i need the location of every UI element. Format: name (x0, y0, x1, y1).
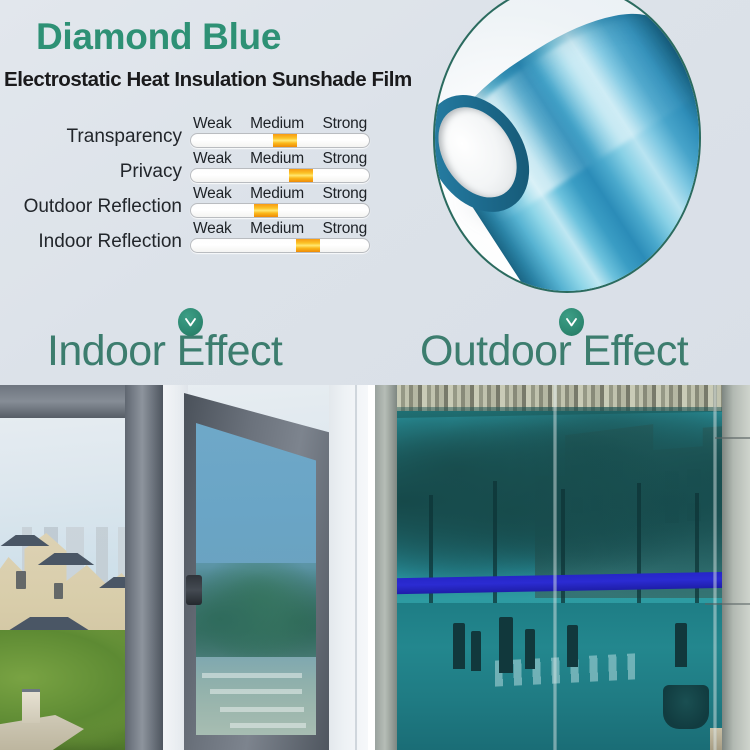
spec-row-transparency: Transparency Weak Medium Strong (0, 113, 400, 148)
villa-window (54, 583, 63, 599)
spec-label: Transparency (0, 127, 190, 148)
window-mullion (125, 385, 163, 750)
scale-medium: Medium (250, 221, 304, 237)
product-title: Diamond Blue (36, 16, 281, 58)
interior-wall (329, 385, 368, 750)
spec-label: Indoor Reflection (0, 232, 190, 253)
spec-gauge: Weak Medium Strong (190, 186, 370, 218)
window-handle[interactable] (186, 575, 202, 605)
scale-medium: Medium (250, 116, 304, 132)
scale-weak: Weak (193, 116, 232, 132)
spec-bar[interactable] (190, 203, 370, 218)
effect-photo-row (0, 385, 750, 750)
glass-reflected-trees (196, 563, 316, 671)
scale-weak: Weak (193, 221, 232, 237)
scale-words: Weak Medium Strong (190, 186, 370, 203)
scale-medium: Medium (250, 151, 304, 167)
glass-reflected-ground (196, 657, 316, 735)
spec-bar[interactable] (190, 238, 370, 253)
scale-strong: Strong (323, 151, 367, 167)
scale-words: Weak Medium Strong (190, 116, 370, 133)
facade-joint-line (715, 437, 750, 439)
spec-bar-marker[interactable] (254, 204, 278, 217)
glass-step (210, 689, 302, 694)
film-roll-image (433, 0, 701, 293)
spec-row-privacy: Privacy Weak Medium Strong (0, 148, 400, 183)
reflected-person (675, 623, 687, 667)
villa-window (16, 571, 26, 589)
product-image-circle (433, 0, 701, 293)
scale-medium: Medium (250, 186, 304, 202)
spec-gauge: Weak Medium Strong (190, 221, 370, 253)
facade-mullion (713, 385, 717, 750)
reflected-person (525, 629, 535, 669)
spec-gauge: Weak Medium Strong (190, 151, 370, 183)
scale-strong: Strong (323, 221, 367, 237)
indoor-effect-title: Indoor Effect (47, 330, 282, 373)
spec-gauge: Weak Medium Strong (190, 116, 370, 148)
reflected-person (453, 623, 465, 669)
outdoor-effect-header: Outdoor Effect (420, 330, 688, 373)
spec-bar[interactable] (190, 168, 370, 183)
garden-post (22, 689, 40, 723)
indoor-effect-header: Indoor Effect (47, 330, 282, 373)
product-subtitle: Electrostatic Heat Insulation Sunshade F… (4, 68, 412, 92)
scale-strong: Strong (323, 116, 367, 132)
scale-words: Weak Medium Strong (190, 151, 370, 168)
glass-step (230, 723, 306, 728)
spec-label: Privacy (0, 162, 190, 183)
scale-weak: Weak (193, 186, 232, 202)
spec-list: Transparency Weak Medium Strong Privacy … (0, 113, 400, 253)
scale-weak: Weak (193, 151, 232, 167)
outdoor-effect-photo (375, 385, 750, 750)
facade-left-post (375, 385, 397, 750)
glass-step (220, 707, 304, 712)
spec-bar-marker[interactable] (273, 134, 297, 147)
outdoor-effect-title: Outdoor Effect (420, 330, 688, 373)
spec-label: Outdoor Reflection (0, 197, 190, 218)
reflected-person (471, 631, 481, 671)
chevron-down-icon (178, 308, 203, 336)
indoor-effect-photo (0, 385, 368, 750)
reflected-person (499, 617, 513, 673)
scale-strong: Strong (323, 186, 367, 202)
facade-right-post (722, 385, 750, 750)
product-header-panel: Diamond Blue Electrostatic Heat Insulati… (0, 0, 750, 385)
facade-joint-line (705, 603, 750, 605)
spec-bar-marker[interactable] (289, 169, 313, 182)
facade-mullion (553, 385, 557, 750)
tinted-window-glass (196, 423, 316, 735)
spec-bar-marker[interactable] (296, 239, 320, 252)
spec-row-indoor-reflection: Indoor Reflection Weak Medium Strong (0, 218, 400, 253)
spec-row-outdoor-reflection: Outdoor Reflection Weak Medium Strong (0, 183, 400, 218)
scale-words: Weak Medium Strong (190, 221, 370, 238)
spec-bar[interactable] (190, 133, 370, 148)
glass-step (202, 673, 302, 678)
reflected-basket (663, 685, 709, 729)
chevron-down-icon (559, 308, 584, 336)
reflected-person (567, 625, 578, 667)
